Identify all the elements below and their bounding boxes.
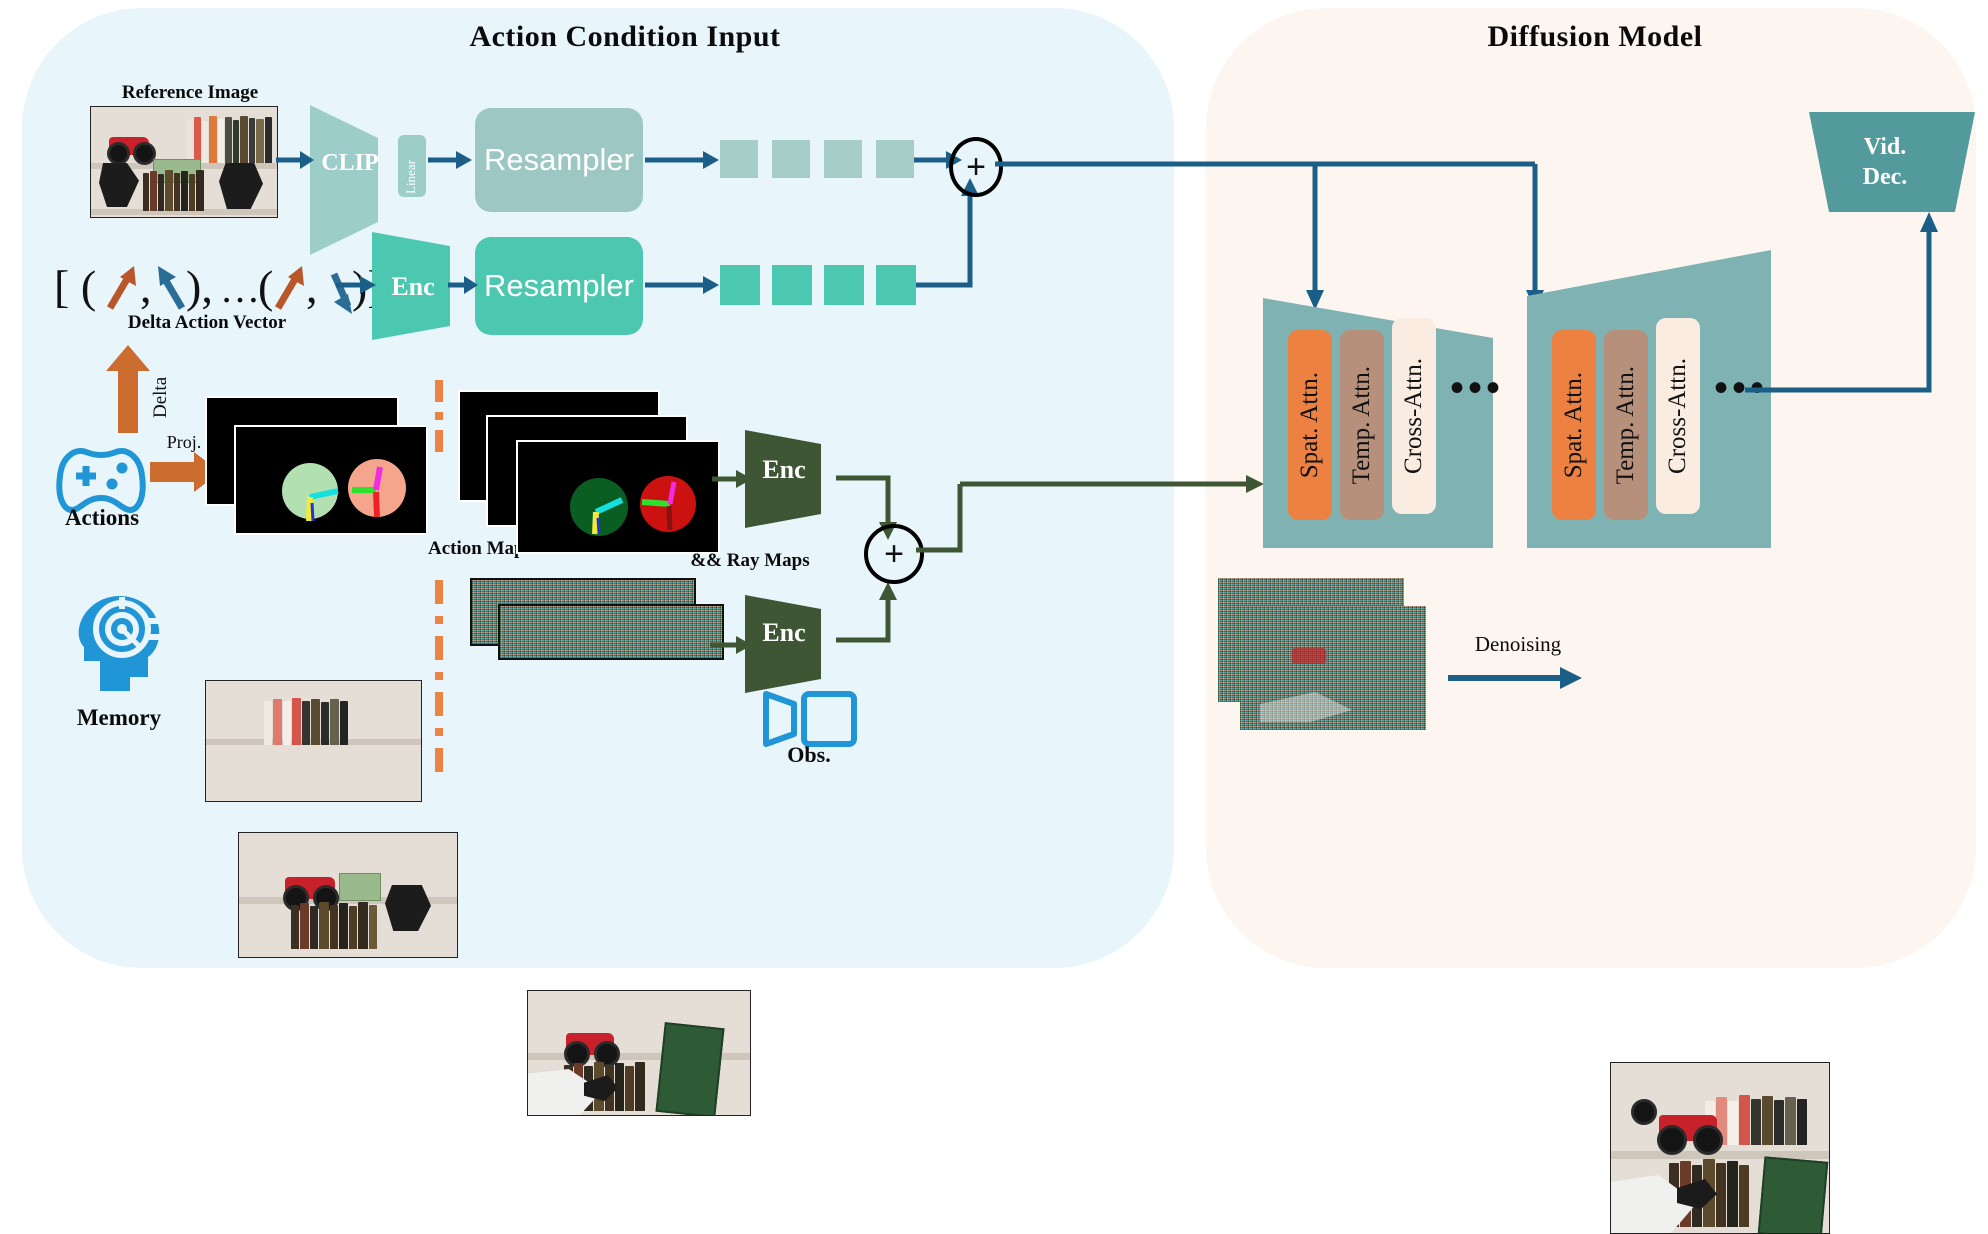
temp-attn-label-2: Temp. Attn. <box>1612 366 1640 484</box>
denoising-input-frame-front <box>1240 606 1426 730</box>
svg-text:[ (: [ ( <box>54 261 96 312</box>
divider-dashes-lower <box>432 580 446 772</box>
page-title-action-condition-input: Action Condition Input <box>340 20 910 54</box>
action-token-3 <box>824 265 864 305</box>
arrow-resampler-to-tokens-action <box>645 268 723 302</box>
action-map-frame-front <box>234 425 428 535</box>
video-decoder-line-1: Vid. <box>1863 132 1908 162</box>
svg-text:),: ), <box>186 261 213 312</box>
image-token-1 <box>720 140 758 178</box>
clip-label: CLIP <box>320 150 380 177</box>
arrow-enc-to-resampler-action <box>448 268 482 302</box>
obs-label: Obs. <box>762 742 856 768</box>
ray-map-frame-front <box>516 440 720 554</box>
delta-arrow-icon <box>108 345 154 433</box>
cross-attn-label-1: Cross-Attn. <box>1400 358 1428 474</box>
image-token-4 <box>876 140 914 178</box>
linear-label: Linear <box>403 140 419 194</box>
obs-frame-front <box>527 990 751 1116</box>
memory-frame-front <box>238 832 458 958</box>
resampler-image-block: Resampler <box>475 108 643 212</box>
spat-attn-label-2: Spat. Attn. <box>1560 372 1588 478</box>
svg-text:…: … <box>220 266 260 311</box>
svg-text:,: , <box>140 261 152 312</box>
page-title-diffusion-model: Diffusion Model <box>1370 20 1820 54</box>
temp-attn-label-1: Temp. Attn. <box>1348 366 1376 484</box>
denoised-output-frame <box>1610 1062 1830 1234</box>
obs-noisy-frame-mid <box>498 604 724 660</box>
unet-block-1-ellipsis: ••• <box>1450 368 1504 408</box>
temp-attn-block-1: Temp. Attn. <box>1340 330 1384 520</box>
temp-attn-block-2: Temp. Attn. <box>1604 330 1648 520</box>
delta-action-vector-label: Delta Action Vector <box>92 312 322 334</box>
ray-maps-label: && Ray Maps <box>660 550 840 572</box>
delta-arrow-label: Delta <box>150 348 172 418</box>
arrow-ref-to-clip <box>276 140 316 180</box>
spat-attn-label-1: Spat. Attn. <box>1296 372 1324 478</box>
cross-attn-block-2: Cross-Attn. <box>1656 318 1700 514</box>
cross-attn-label-2: Cross-Attn. <box>1664 358 1692 474</box>
svg-text:(: ( <box>258 261 273 312</box>
image-token-2 <box>772 140 810 178</box>
arrow-obs-to-enc <box>710 628 754 662</box>
spat-attn-block-2: Spat. Attn. <box>1552 330 1596 520</box>
reference-image-label: Reference Image <box>100 82 280 104</box>
resampler-action-block: Resampler <box>475 237 643 335</box>
action-token-4 <box>876 265 916 305</box>
cross-attn-block-1: Cross-Attn. <box>1392 318 1436 514</box>
memory-label: Memory <box>58 705 180 731</box>
action-token-1 <box>720 265 760 305</box>
enc-action-label: Enc <box>378 272 448 302</box>
video-decoder-line-2: Dec. <box>1863 162 1908 192</box>
arrow-linear-to-resampler <box>428 142 476 178</box>
camera-icon <box>760 690 856 748</box>
arrow-sum-to-unet <box>916 470 1236 590</box>
spat-attn-block-1: Spat. Attn. <box>1288 330 1332 520</box>
image-token-3 <box>824 140 862 178</box>
memory-brain-icon <box>66 585 170 695</box>
action-token-2 <box>772 265 812 305</box>
memory-frame-back <box>205 680 422 802</box>
arrow-unet-to-video-decoder <box>1745 196 1945 396</box>
svg-text:,: , <box>306 261 318 312</box>
divider-dashes-upper <box>432 380 446 462</box>
actions-label: Actions <box>46 505 158 531</box>
arrow-raymaps-to-enc <box>712 462 754 496</box>
reference-image-thumbnail <box>90 106 278 218</box>
arrow-resampler-to-tokens-image <box>645 142 723 178</box>
arrow-delta-to-enc <box>336 268 378 302</box>
video-decoder-label: Vid. Dec. <box>1815 124 1955 200</box>
enc-raymaps-label: Enc <box>750 455 818 485</box>
denoising-arrow <box>1448 660 1588 696</box>
denoising-label: Denoising <box>1452 632 1584 657</box>
enc-obs-label: Enc <box>750 618 818 648</box>
sum-node-latents: + <box>864 524 924 584</box>
